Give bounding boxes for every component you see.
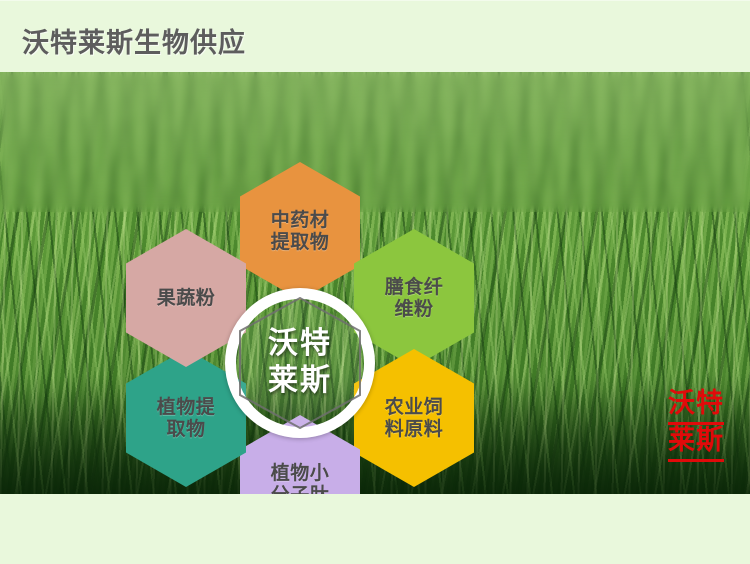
footer-band: [0, 494, 750, 564]
hexagon-tcm-extract[interactable]: 中药材 提取物: [240, 162, 360, 300]
hexagon-label: 植物小 分子肽: [271, 462, 330, 494]
header-band: 沃特莱斯生物供应: [0, 0, 750, 73]
hexagon-label: 果蔬粉: [157, 287, 216, 309]
honeycomb-diagram: 中药材 提取物 膳食纤 维粉 农业饲 料原料 植物小 分子肽 植物提 取物 果蔬…: [130, 157, 490, 494]
watermark-line-2: 莱斯: [668, 425, 724, 462]
watermark-line-1: 沃特: [668, 388, 724, 425]
hexagon-label: 植物提 取物: [157, 396, 216, 441]
hexagon-label: 农业饲 料原料: [385, 396, 444, 441]
hexagon-label: 膳食纤 维粉: [385, 276, 444, 321]
slide-canvas: 沃特莱斯生物供应 中药材 提取物 膳食纤 维粉 农业饲 料原料 植物小 分子肽 …: [0, 0, 750, 564]
brand-watermark: 沃特 莱斯: [668, 388, 724, 462]
background-photo-rice-field: 中药材 提取物 膳食纤 维粉 农业饲 料原料 植物小 分子肽 植物提 取物 果蔬…: [0, 72, 750, 494]
page-title: 沃特莱斯生物供应: [22, 21, 246, 60]
hexagon-label: 中药材 提取物: [271, 209, 330, 254]
center-brand-label: 沃特 莱斯: [238, 297, 362, 429]
